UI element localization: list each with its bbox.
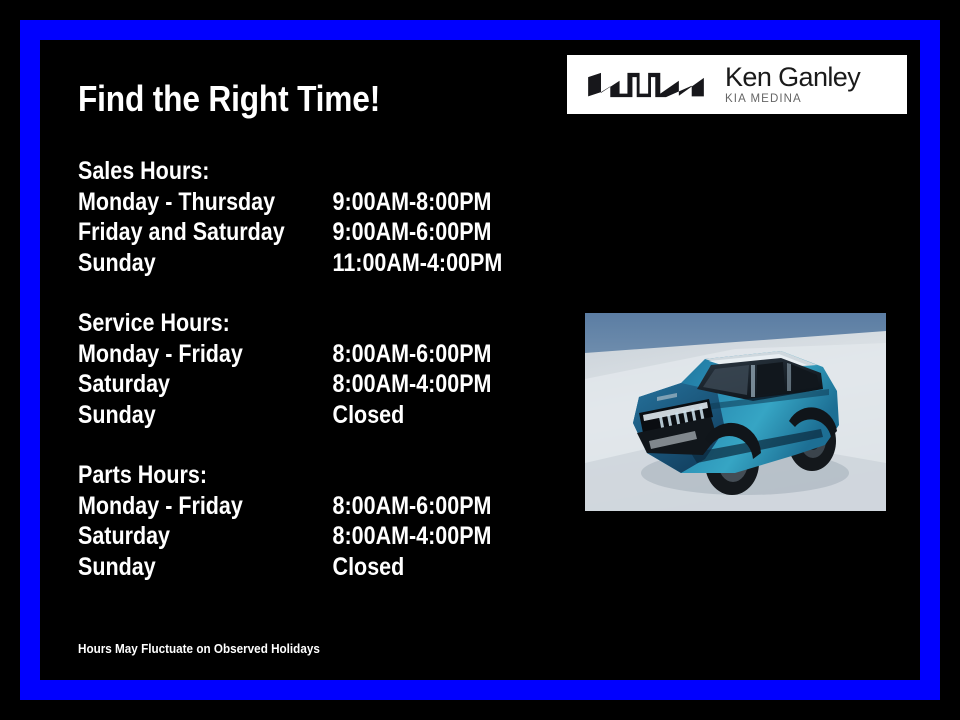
- kia-ev9-suv-photo: [585, 313, 886, 511]
- hours-day-label: Sunday: [78, 400, 156, 431]
- hours-row: Friday and Saturday 9:00AM-6:00PM: [78, 217, 209, 248]
- hours-row: Sunday Closed: [78, 552, 207, 583]
- dealer-name-block: Ken Ganley KIA MEDINA: [725, 64, 860, 106]
- hours-time-value: 9:00AM-8:00PM: [333, 187, 492, 218]
- hours-group-title-service: Service Hours:: [78, 308, 230, 339]
- hours-day-label: Friday and Saturday: [78, 217, 285, 248]
- dealer-name: Ken Ganley: [725, 64, 860, 91]
- slide-content: Find the Right Time! Sales Hours: Monday…: [0, 0, 960, 720]
- hours-group-parts: Parts Hours: Monday - Friday 8:00AM-6:00…: [78, 460, 228, 582]
- hours-group-service: Service Hours: Monday - Friday 8:00AM-6:…: [78, 308, 254, 430]
- hours-time-value: 11:00AM-4:00PM: [333, 248, 503, 279]
- page-title: Find the Right Time!: [78, 78, 380, 120]
- hours-day-label: Monday - Friday: [78, 491, 243, 522]
- hours-day-label: Sunday: [78, 248, 156, 279]
- hours-row: Monday - Friday 8:00AM-6:00PM: [78, 339, 230, 370]
- hours-group-title-parts: Parts Hours:: [78, 460, 207, 491]
- dealer-logo: Ken Ganley KIA MEDINA: [567, 55, 907, 114]
- hours-day-label: Saturday: [78, 521, 170, 552]
- hours-day-label: Saturday: [78, 369, 170, 400]
- hours-time-value: 8:00AM-6:00PM: [333, 339, 492, 370]
- hours-row: Sunday 11:00AM-4:00PM: [78, 248, 209, 279]
- hours-row: Saturday 8:00AM-4:00PM: [78, 521, 207, 552]
- hours-time-value: 8:00AM-6:00PM: [333, 491, 492, 522]
- hours-time-value: Closed: [333, 552, 405, 583]
- hours-row: Monday - Thursday 9:00AM-8:00PM: [78, 187, 209, 218]
- hours-time-value: Closed: [333, 400, 405, 431]
- hours-row: Monday - Friday 8:00AM-6:00PM: [78, 491, 207, 522]
- hours-time-value: 8:00AM-4:00PM: [333, 369, 492, 400]
- hours-row: Sunday Closed: [78, 400, 230, 431]
- hours-day-label: Monday - Friday: [78, 339, 243, 370]
- hours-group-title-sales: Sales Hours:: [78, 156, 209, 187]
- hours-row: Saturday 8:00AM-4:00PM: [78, 369, 230, 400]
- hours-time-value: 9:00AM-6:00PM: [333, 217, 492, 248]
- hours-time-value: 8:00AM-4:00PM: [333, 521, 492, 552]
- hours-day-label: Sunday: [78, 552, 156, 583]
- hours-day-label: Monday - Thursday: [78, 187, 275, 218]
- kia-logo-icon: [585, 70, 707, 100]
- hours-group-sales: Sales Hours: Monday - Thursday 9:00AM-8:…: [78, 156, 231, 278]
- holiday-disclaimer: Hours May Fluctuate on Observed Holidays: [78, 641, 320, 657]
- dealer-subtitle: KIA MEDINA: [725, 94, 860, 106]
- dealership-hours-slide: Find the Right Time! Sales Hours: Monday…: [0, 0, 960, 720]
